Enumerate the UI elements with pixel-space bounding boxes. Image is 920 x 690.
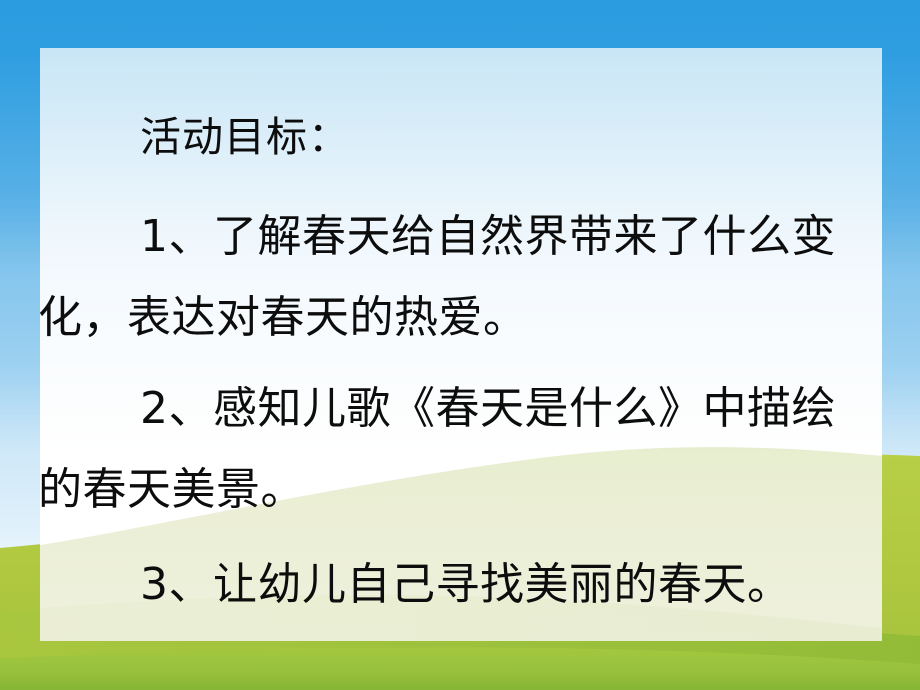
objective-3-line-1: 3、让幼儿自己寻找美丽的春天。 — [140, 562, 792, 608]
objective-1-line-1: 1、了解春天给自然界带来了什么变 — [140, 214, 836, 260]
content-panel: 活动目标： 1、了解春天给自然界带来了什么变 化，表达对春天的热爱。 2、感知儿… — [40, 48, 882, 641]
objective-1-line-2: 化，表达对春天的热爱。 — [40, 295, 528, 341]
page-title: 活动目标： — [140, 116, 350, 159]
objective-2-line-2: 的春天美景。 — [40, 467, 305, 513]
objectives-text-layer: 活动目标： 1、了解春天给自然界带来了什么变 化，表达对春天的热爱。 2、感知儿… — [40, 48, 882, 641]
objective-2-line-1: 2、感知儿歌《春天是什么》中描绘 — [140, 386, 836, 432]
slide-canvas: 活动目标： 1、了解春天给自然界带来了什么变 化，表达对春天的热爱。 2、感知儿… — [0, 0, 920, 690]
